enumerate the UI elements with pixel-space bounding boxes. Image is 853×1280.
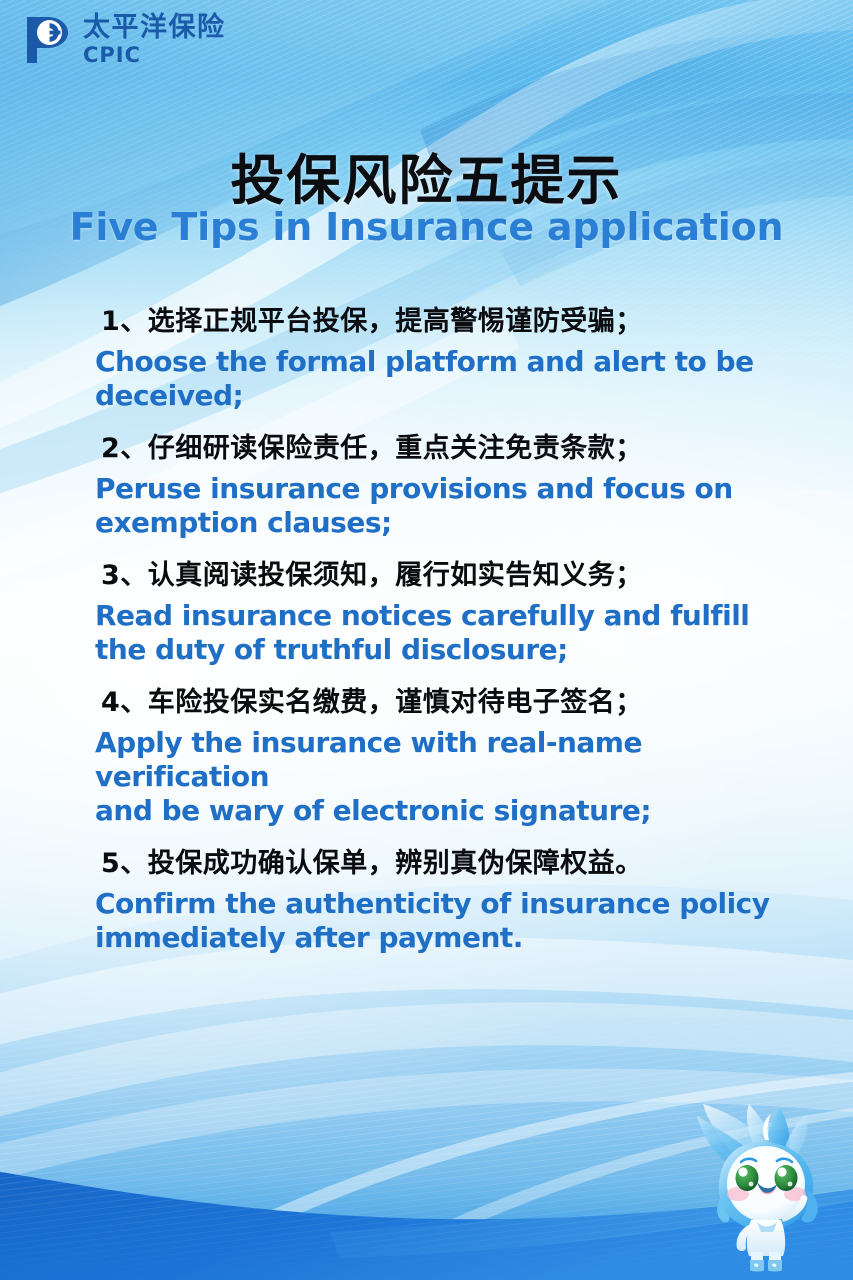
brand-name-en: CPIC xyxy=(83,45,226,66)
tip-en-line: deceived; xyxy=(95,379,795,413)
tip-en-1: Choose the formal platform and alert to … xyxy=(95,345,795,413)
tip-en-line: Choose the formal platform and alert to … xyxy=(95,345,795,379)
page-title-cn: 投保风险五提示 xyxy=(0,136,853,215)
page-title-en: Five Tips in Insurance application xyxy=(0,205,853,249)
tip-item-1: 1、选择正规平台投保，提高警惕谨防受骗； Choose the formal p… xyxy=(95,305,795,413)
tip-en-line: immediately after payment. xyxy=(95,921,795,955)
tip-en-5: Confirm the authenticity of insurance po… xyxy=(95,887,795,955)
tip-en-line: Read insurance notices carefully and ful… xyxy=(95,599,795,633)
tip-en-4: Apply the insurance with real-name verif… xyxy=(95,726,795,828)
tip-en-line: Peruse insurance provisions and focus on xyxy=(95,472,795,506)
cpic-mascot-icon xyxy=(695,1104,835,1272)
poster-canvas: 太平洋保险 CPIC 投保风险五提示 Five Tips in Insuranc… xyxy=(0,0,853,1280)
cpic-p-c-logo-icon xyxy=(24,15,72,65)
brand-name-cn: 太平洋保险 xyxy=(83,14,226,41)
tip-en-line: the duty of truthful disclosure; xyxy=(95,633,795,667)
tip-item-4: 4、车险投保实名缴费，谨慎对待电子签名； Apply the insurance… xyxy=(95,686,795,828)
tip-cn-4: 4、车险投保实名缴费，谨慎对待电子签名； xyxy=(95,686,795,720)
tip-item-2: 2、仔细研读保险责任，重点关注免责条款； Peruse insurance pr… xyxy=(95,432,795,540)
tip-cn-3: 3、认真阅读投保须知，履行如实告知义务； xyxy=(95,559,795,593)
mascot-character xyxy=(695,1104,835,1272)
tip-cn-1: 1、选择正规平台投保，提高警惕谨防受骗； xyxy=(95,305,795,339)
tip-en-3: Read insurance notices carefully and ful… xyxy=(95,599,795,667)
tip-en-line: and be wary of electronic signature; xyxy=(95,794,795,828)
tip-item-3: 3、认真阅读投保须知，履行如实告知义务； Read insurance noti… xyxy=(95,559,795,667)
tip-en-line: Confirm the authenticity of insurance po… xyxy=(95,887,795,921)
tips-list: 1、选择正规平台投保，提高警惕谨防受骗； Choose the formal p… xyxy=(95,305,795,974)
tip-cn-5: 5、投保成功确认保单，辨别真伪保障权益。 xyxy=(95,847,795,881)
tip-cn-2: 2、仔细研读保险责任，重点关注免责条款； xyxy=(95,432,795,466)
tip-en-line: Apply the insurance with real-name verif… xyxy=(95,726,795,794)
brand-logo: 太平洋保险 CPIC xyxy=(24,14,226,66)
tip-en-2: Peruse insurance provisions and focus on… xyxy=(95,472,795,540)
tip-en-line: exemption clauses; xyxy=(95,506,795,540)
tip-item-5: 5、投保成功确认保单，辨别真伪保障权益。 Confirm the authent… xyxy=(95,847,795,955)
